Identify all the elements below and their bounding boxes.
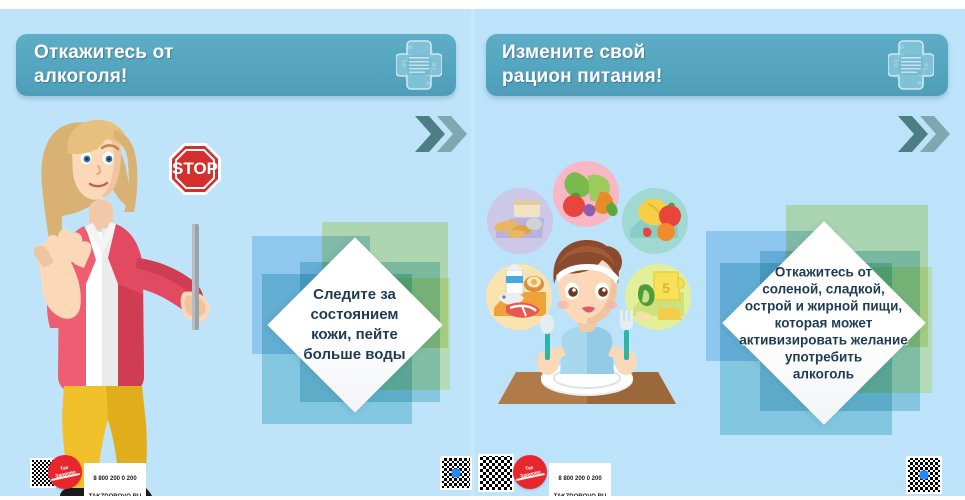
- diamond-card-left: Следите за состоянием кожи, пейте больше…: [252, 222, 457, 427]
- top-edge: [0, 0, 965, 9]
- infographic-canvas: STOP: [0, 0, 965, 500]
- svg-text:5: 5: [662, 280, 670, 296]
- diamond-left-text: Следите за состоянием кожи, пейте больше…: [275, 285, 435, 365]
- qr-code-right[interactable]: [906, 456, 942, 494]
- banner-right: Измените свой рацион питания!: [486, 34, 948, 96]
- medical-cross-emblem: [396, 39, 442, 91]
- bottom-edge: [0, 496, 965, 500]
- double-chevron-right-icon-right: [898, 116, 952, 152]
- vk-badge-icon: [452, 469, 461, 478]
- takzdorovo-logo[interactable]: Так Здорово: [48, 455, 82, 489]
- qr-code-center-b[interactable]: [478, 454, 514, 492]
- medical-cross-emblem: [888, 39, 934, 91]
- double-chevron-right-icon-left: [415, 116, 469, 152]
- stop-sign-label: STOP: [172, 159, 218, 178]
- diamond-right-text: Откажитесь от соленой, сладкой, острой и…: [716, 263, 931, 382]
- hotline-plate: 8 800 200 0 200 TAKZDOROVO.RU: [84, 463, 146, 500]
- banner-left: Откажитесь от алкоголя!: [16, 34, 456, 96]
- takzdorovo-logo[interactable]: Так Здорово: [513, 455, 547, 489]
- illustration-woman-with-stop-sign: STOP: [6, 108, 246, 496]
- diamond-card-right: Откажитесь от соленой, сладкой, острой и…: [706, 205, 941, 440]
- food-group-dairy-oils: 5: [625, 264, 691, 330]
- qr-code-center-a[interactable]: [440, 456, 472, 490]
- banner-right-title: Измените свой рацион питания!: [486, 41, 663, 89]
- banner-left-title: Откажитесь от алкоголя!: [16, 41, 174, 89]
- hotline-plate: 8 800 200 0 200 TAKZDOROVO.RU: [549, 463, 611, 500]
- food-group-grains: [487, 188, 553, 254]
- hotline-number: 8 800 200 0 200: [93, 476, 136, 482]
- food-group-fruits: [622, 188, 688, 254]
- vk-badge-icon: [920, 471, 929, 480]
- illustration-woman-eating-with-food-groups: 5: [462, 158, 712, 404]
- hotline-number: 8 800 200 0 200: [558, 476, 601, 482]
- food-group-vegetables: [553, 161, 619, 227]
